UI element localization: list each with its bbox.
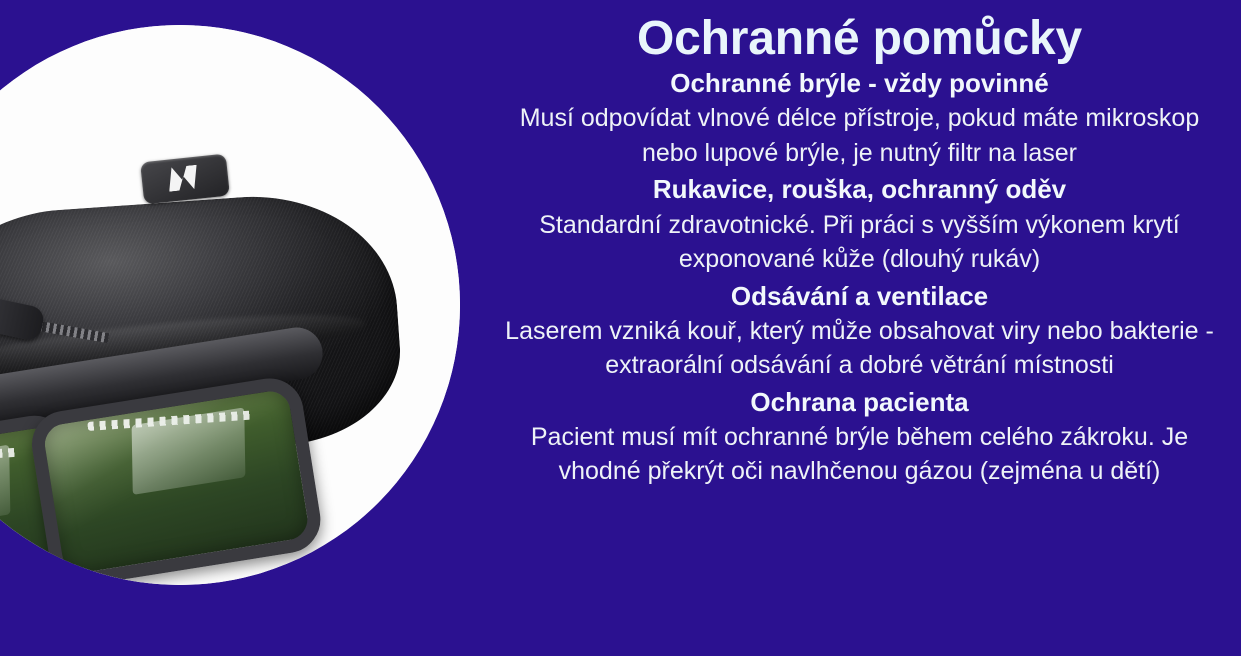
circular-photo-mask [0, 25, 460, 585]
section-body: Laserem vzniká kouř, který může obsahova… [494, 314, 1225, 383]
section-gloves-mask-gown: Rukavice, rouška, ochranný oděv Standard… [494, 172, 1225, 276]
section-heading: Odsávání a ventilace [494, 279, 1225, 314]
section-body: Pacient musí mít ochranné brýle během ce… [494, 420, 1225, 489]
section-protective-glasses: Ochranné brýle - vždy povinné Musí odpov… [494, 66, 1225, 170]
section-body: Standardní zdravotnické. Při práci s vyš… [494, 208, 1225, 277]
content-column: Ochranné pomůcky Ochranné brýle - vždy p… [478, 0, 1241, 656]
section-patient-protection: Ochrana pacienta Pacient musí mít ochran… [494, 385, 1225, 489]
section-heading: Ochranné brýle - vždy povinné [494, 66, 1225, 101]
section-heading: Ochrana pacienta [494, 385, 1225, 420]
section-body: Musí odpovídat vlnové délce přístroje, p… [494, 101, 1225, 170]
page-title: Ochranné pomůcky [494, 14, 1225, 64]
product-photo [0, 25, 460, 585]
lens-glare-icon [0, 445, 11, 533]
case-logo-badge-icon [140, 154, 230, 205]
section-heading: Rukavice, rouška, ochranný oděv [494, 172, 1225, 207]
section-extraction-ventilation: Odsávání a ventilace Laserem vzniká kouř… [494, 279, 1225, 383]
slide-root: Ochranné pomůcky Ochranné brýle - vždy p… [0, 0, 1241, 656]
photo-panel [0, 0, 480, 656]
